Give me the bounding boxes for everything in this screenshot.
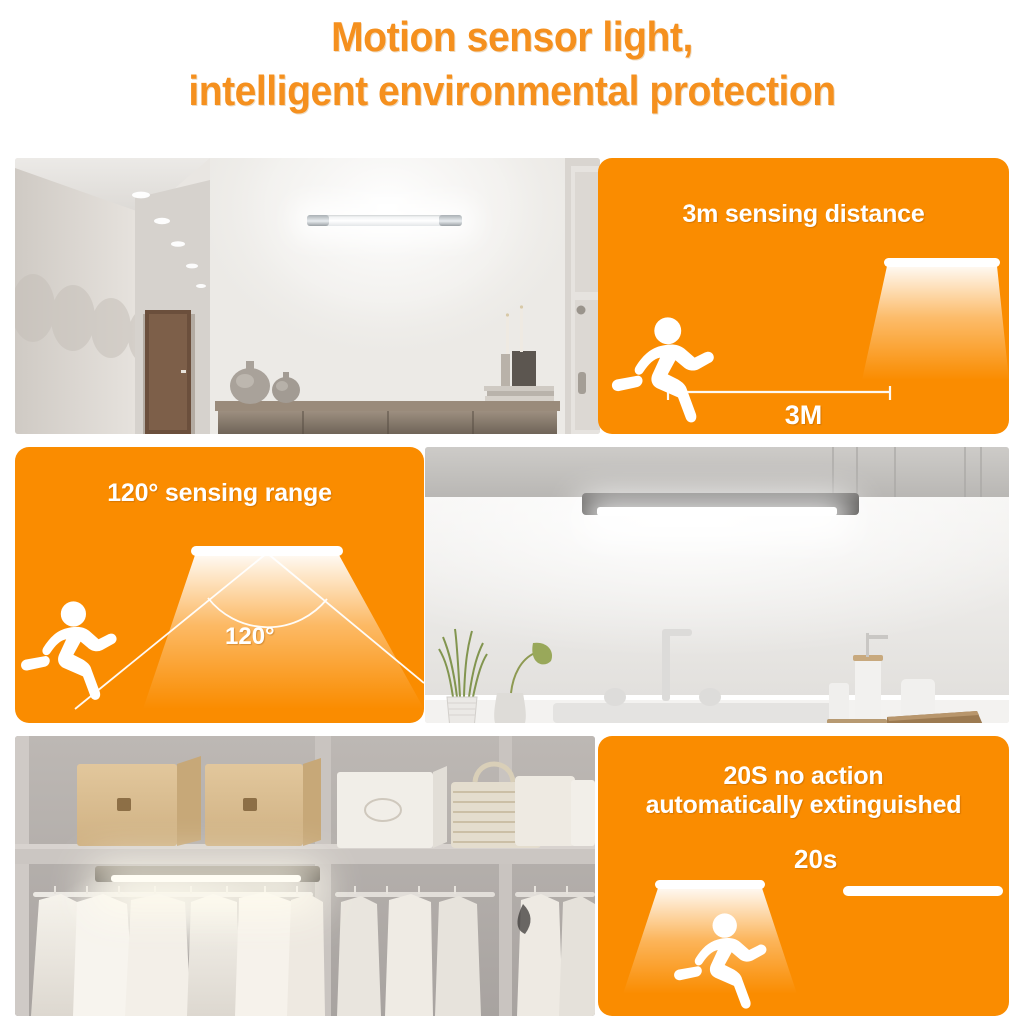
auto-off-diagram — [598, 736, 1009, 1016]
distance-value-label: 3M — [598, 400, 1009, 431]
panel-row-3: 20S no action automatically extinguished — [0, 736, 1024, 1016]
light-bar-end-cap-right — [439, 215, 462, 226]
light-bar-emitter — [111, 875, 301, 882]
page-title-line-1: Motion sensor light, — [36, 10, 988, 64]
infographic-page: Motion sensor light, intelligent environ… — [0, 0, 1024, 1024]
hallway-entryway-photo — [15, 158, 600, 434]
timer-value-label: 20s — [794, 844, 837, 875]
panel-row-1: 3m sensing distance — [0, 158, 1024, 434]
kitchen-counter-photo — [425, 447, 1009, 723]
page-title: Motion sensor light, intelligent environ… — [36, 10, 988, 118]
light-cone-icon — [143, 555, 424, 709]
sensing-range-card: 120° sensing range — [15, 447, 424, 723]
light-bar-icon — [655, 880, 765, 889]
wardrobe-closet-photo — [15, 736, 595, 1016]
light-off-bar-icon — [843, 886, 1003, 896]
sensing-distance-diagram — [598, 158, 1009, 434]
light-bar-icon — [884, 258, 1000, 267]
hallway-scene-graphic — [15, 158, 600, 434]
kitchen-scene-graphic — [425, 447, 1009, 723]
measure-line-icon — [668, 386, 890, 400]
sensing-range-diagram — [15, 447, 424, 723]
auto-off-card: 20S no action automatically extinguished — [598, 736, 1009, 1016]
light-cone-icon — [623, 888, 797, 994]
light-bar-emitter — [597, 507, 837, 516]
angle-value-label: 120° — [225, 623, 275, 651]
running-person-icon — [21, 601, 117, 699]
light-bar-end-cap-left — [307, 215, 329, 226]
light-cone-icon — [862, 266, 1009, 380]
light-bar-icon — [191, 546, 343, 556]
panel-row-2: 120° sensing range — [0, 447, 1024, 723]
page-title-line-2: intelligent environmental protection — [36, 64, 988, 118]
sensing-distance-card: 3m sensing distance — [598, 158, 1009, 434]
